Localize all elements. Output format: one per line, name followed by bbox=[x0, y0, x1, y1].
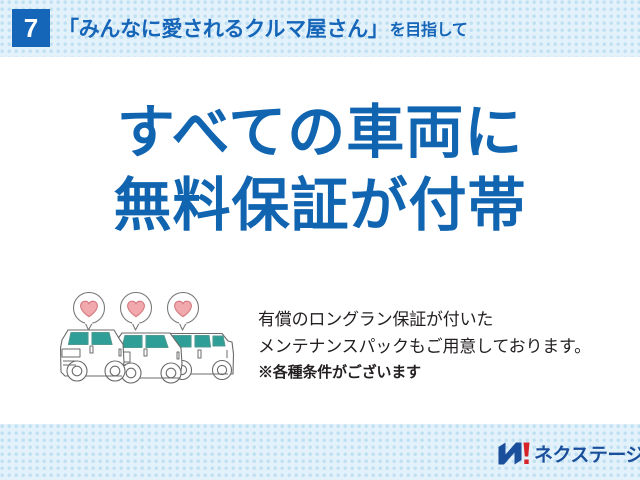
header-title-quoted: 「みんなに愛されるクルマ屋さん」 bbox=[58, 13, 389, 43]
promo-slide: 7 「みんなに愛されるクルマ屋さん」 を目指して すべての車両に 無料保証が付帯 bbox=[0, 0, 640, 480]
kei-van-car bbox=[61, 330, 126, 381]
heart-bubble-3 bbox=[168, 293, 199, 331]
brand-logo-wordmark: ネクステージ bbox=[534, 440, 640, 467]
section-number-badge: 7 bbox=[12, 9, 50, 47]
brand-logo: ネクステージ bbox=[497, 440, 640, 466]
body-copy-line-1: 有償のロングラン保証が付いた bbox=[258, 306, 636, 333]
header-title-tail: を目指して bbox=[389, 16, 468, 40]
headline-line-2: 無料保証が付帯 bbox=[0, 169, 640, 242]
headline-line-1: すべての車両に bbox=[0, 96, 640, 169]
heart-bubble-1 bbox=[74, 293, 105, 331]
page-title: すべての車両に 無料保証が付帯 bbox=[0, 96, 640, 242]
body-copy: 有償のロングラン保証が付いた メンテナンスパックもご用意しております。 ※各種条… bbox=[258, 306, 636, 386]
body-copy-note: ※各種条件がございます bbox=[258, 360, 636, 386]
body-copy-line-2: メンテナンスパックもご用意しております。 bbox=[258, 333, 636, 360]
heart-bubble-2 bbox=[121, 293, 152, 331]
header-title: 「みんなに愛されるクルマ屋さん」 を目指して bbox=[58, 10, 468, 46]
nextage-n-logo-icon bbox=[497, 441, 531, 466]
three-cars-illustration bbox=[52, 292, 252, 396]
